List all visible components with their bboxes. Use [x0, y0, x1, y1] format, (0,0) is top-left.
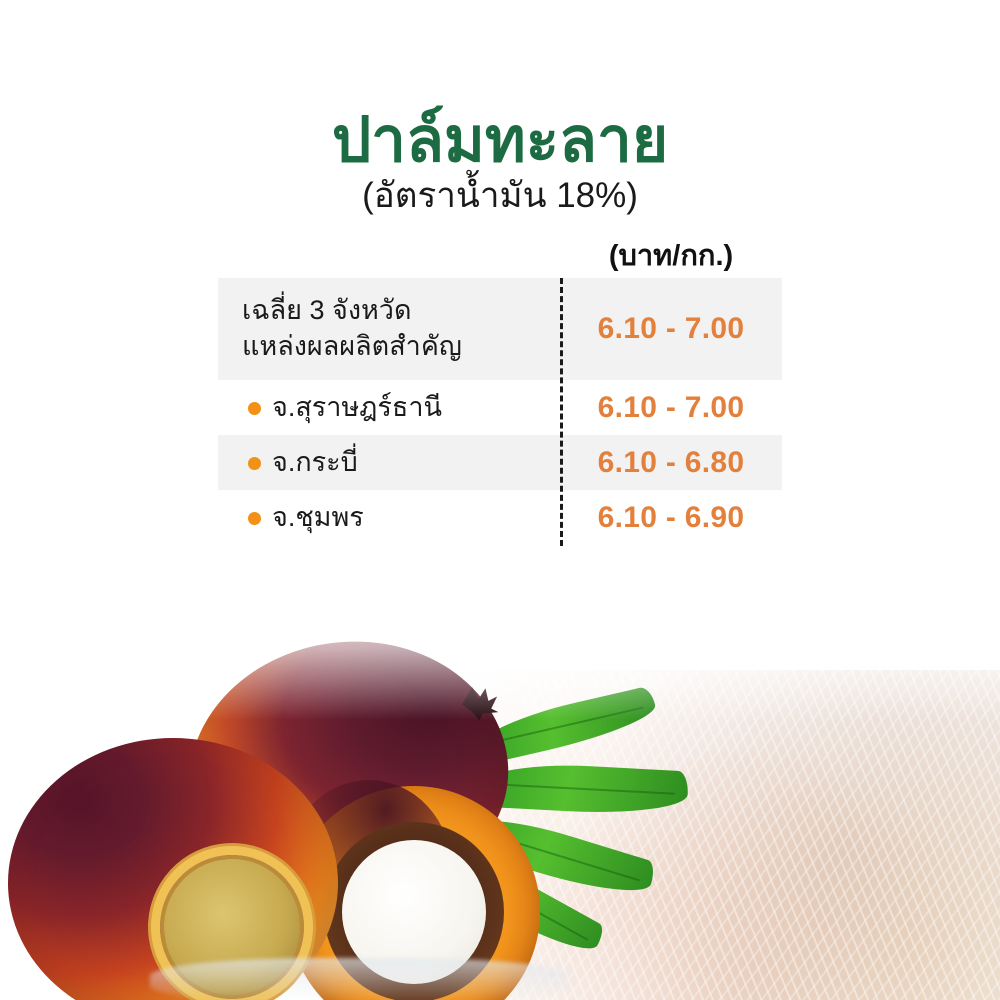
- price-table: เฉลี่ย 3 จังหวัด แหล่งผลผลิตสำคัญ 6.10 -…: [218, 278, 782, 545]
- row-value: 6.10 - 7.00: [598, 391, 745, 425]
- row-value: 6.10 - 6.90: [598, 501, 745, 535]
- bullet-icon: [248, 457, 261, 470]
- table-row: จ.กระบี่ 6.10 - 6.80: [218, 435, 782, 490]
- row-label-cell: จ.สุราษฎร์ธานี: [218, 390, 560, 426]
- table-row: จ.ชุมพร 6.10 - 6.90: [218, 490, 782, 545]
- table-row: เฉลี่ย 3 จังหวัด แหล่งผลผลิตสำคัญ 6.10 -…: [218, 278, 782, 380]
- row-value: 6.10 - 6.80: [598, 446, 745, 480]
- row-label: จ.กระบี่: [272, 445, 358, 481]
- infographic-page: ปาล์มทะลาย (อัตราน้ำมัน 18%) (บาท/กก.) เ…: [0, 0, 1000, 1000]
- row-value: 6.10 - 7.00: [598, 312, 745, 346]
- bullet-icon: [248, 512, 261, 525]
- row-value-cell: 6.10 - 7.00: [560, 391, 782, 425]
- row-value-cell: 6.10 - 6.80: [560, 446, 782, 480]
- column-divider: [560, 278, 563, 546]
- row-label-cell: จ.ชุมพร: [218, 500, 560, 536]
- row-label-cell: จ.กระบี่: [218, 445, 560, 481]
- ice-bed: [150, 958, 570, 1000]
- bullet-icon: [248, 402, 261, 415]
- row-value-cell: 6.10 - 7.00: [560, 312, 782, 346]
- page-subtitle: (อัตราน้ำมัน 18%): [0, 177, 1000, 216]
- row-label: เฉลี่ย 3 จังหวัด แหล่งผลผลิตสำคัญ: [242, 293, 462, 364]
- page-title: ปาล์มทะลาย: [0, 108, 1000, 173]
- palm-fruit-illustration: [0, 590, 1000, 1000]
- row-label: จ.ชุมพร: [272, 500, 364, 536]
- row-label: จ.สุราษฎร์ธานี: [272, 390, 442, 426]
- header-block: ปาล์มทะลาย (อัตราน้ำมัน 18%): [0, 108, 1000, 216]
- artwork-top-fade: [0, 590, 1000, 720]
- unit-column-header: (บาท/กก.): [560, 232, 782, 278]
- table-row: จ.สุราษฎร์ธานี 6.10 - 7.00: [218, 380, 782, 435]
- row-value-cell: 6.10 - 6.90: [560, 501, 782, 535]
- row-label-cell: เฉลี่ย 3 จังหวัด แหล่งผลผลิตสำคัญ: [218, 293, 560, 364]
